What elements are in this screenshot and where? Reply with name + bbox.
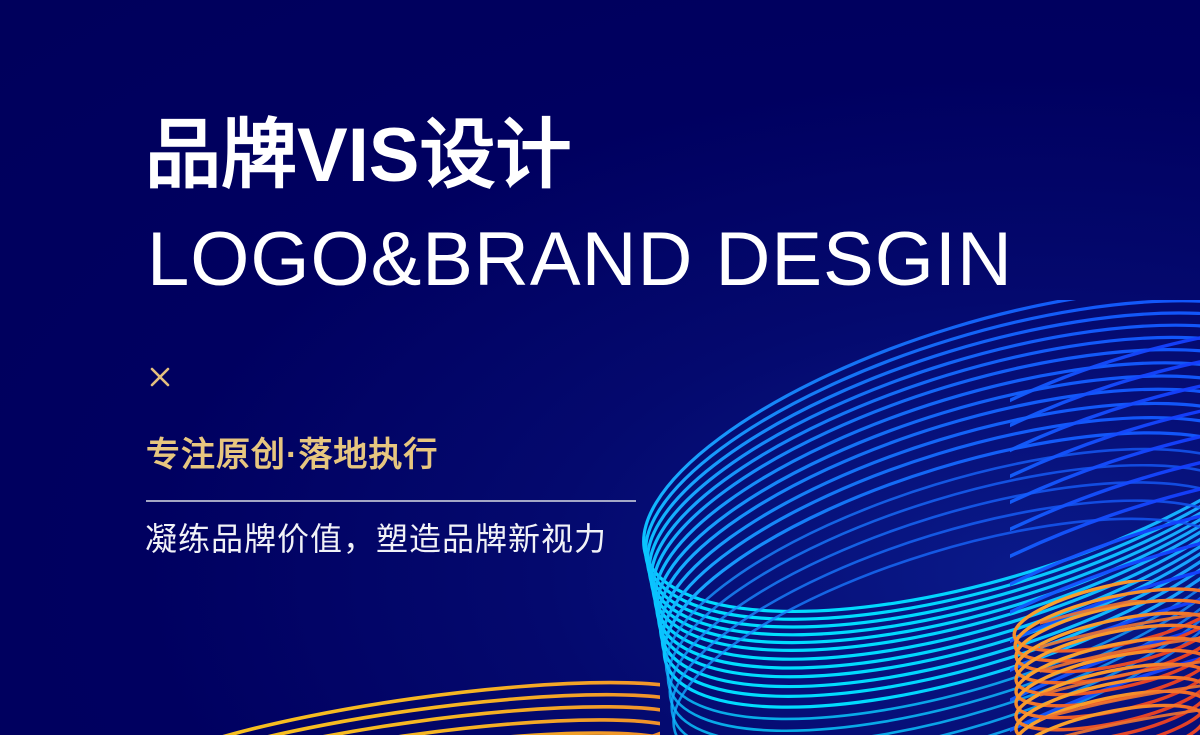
subline-text: 凝练品牌价值，塑造品牌新视力 [145, 515, 607, 563]
page-title-chinese: 品牌VIS设计 [145, 118, 572, 194]
divider-rule [146, 500, 636, 502]
page-title-english: LOGO&BRAND DESGIN [147, 222, 1013, 298]
brand-vis-banner: 品牌VIS设计 LOGO&BRAND DESGIN 专注原创·落地执行 凝练品牌… [0, 0, 1200, 735]
tagline-gold: 专注原创·落地执行 [146, 437, 438, 474]
cross-mark-icon [147, 364, 173, 390]
text-content-block: 品牌VIS设计 LOGO&BRAND DESGIN 专注原创·落地执行 凝练品牌… [145, 0, 1105, 735]
